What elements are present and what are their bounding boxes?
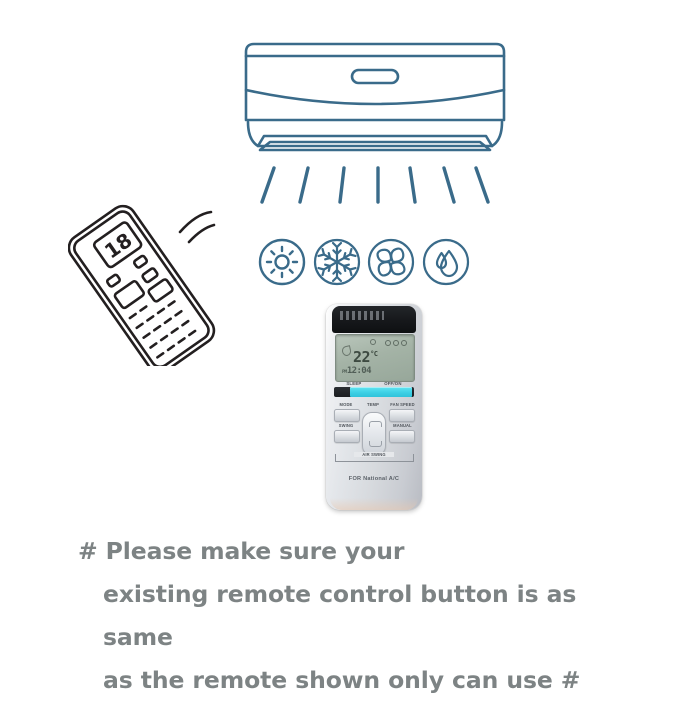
remote-brandmark [340, 311, 384, 320]
temp-button[interactable] [362, 412, 386, 456]
lcd-temperature: 22°C [353, 350, 378, 365]
power-button-housing [334, 387, 414, 397]
temp-button-label: TEMP [359, 402, 387, 407]
swing-button-label: SWING [332, 423, 360, 428]
fan-speed-button-label: FAN SPEED [386, 402, 419, 407]
notice-line-1: # Please make sure your [78, 530, 638, 573]
sun-icon [258, 238, 306, 286]
lcd-clock: PM12:04 [342, 367, 371, 376]
remote-button-area: MODE TEMP FAN SPEED SWING MANUAL AIR SWI… [326, 402, 422, 464]
lcd-clock-time: 12:04 [347, 366, 371, 376]
compatibility-notice: # Please make sure your existing remote … [78, 530, 638, 702]
water-drop-icon [422, 238, 470, 286]
remote-ir-panel [332, 306, 416, 333]
sleep-label: SLEEP [346, 381, 361, 386]
power-bar-button[interactable] [350, 387, 412, 397]
temp-down-chevron-icon [369, 441, 382, 447]
lcd-leaf-icon [341, 345, 352, 357]
svg-text:18: 18 [100, 228, 137, 264]
lcd-indicator-dots [385, 340, 407, 346]
notice-line-3: as the remote shown only can use # [78, 659, 638, 702]
remote-lcd-display: 22°C PM12:04 [335, 334, 415, 382]
air-conditioner-illustration [236, 42, 514, 164]
remote-display-labels: SLEEP OFF/ON [335, 381, 413, 386]
mode-button-label: MODE [332, 402, 360, 407]
remote-brand-text: FOR National A/C [326, 476, 422, 482]
snowflake-icon [313, 238, 361, 286]
manual-button[interactable] [389, 430, 415, 443]
fan-speed-button[interactable] [389, 409, 415, 422]
airflow-lines [252, 162, 492, 210]
remote-control-device: 22°C PM12:04 SLEEP OFF/ON MODE TEMP FAN … [326, 304, 422, 510]
lcd-temperature-unit: °C [370, 350, 377, 358]
manual-button-label: MANUAL [386, 423, 419, 428]
fan-icon [367, 238, 415, 286]
on-off-label: OFF/ON [384, 381, 401, 386]
page-root: 18 [0, 0, 700, 700]
lcd-temperature-value: 22 [353, 348, 370, 366]
lineart-remote-illustration: 18 [68, 198, 216, 366]
mode-button[interactable] [334, 409, 360, 422]
remote-footer: FOR National A/C [326, 462, 422, 510]
air-swing-label: AIR SWING [354, 452, 394, 457]
remote-bottom-shading [330, 498, 418, 510]
lcd-fan-indicator-icon [370, 339, 376, 345]
notice-line-2: existing remote control button is as sam… [78, 573, 638, 659]
swing-button[interactable] [334, 430, 360, 443]
temp-up-chevron-icon [369, 421, 382, 427]
mode-icon-row [258, 236, 470, 288]
